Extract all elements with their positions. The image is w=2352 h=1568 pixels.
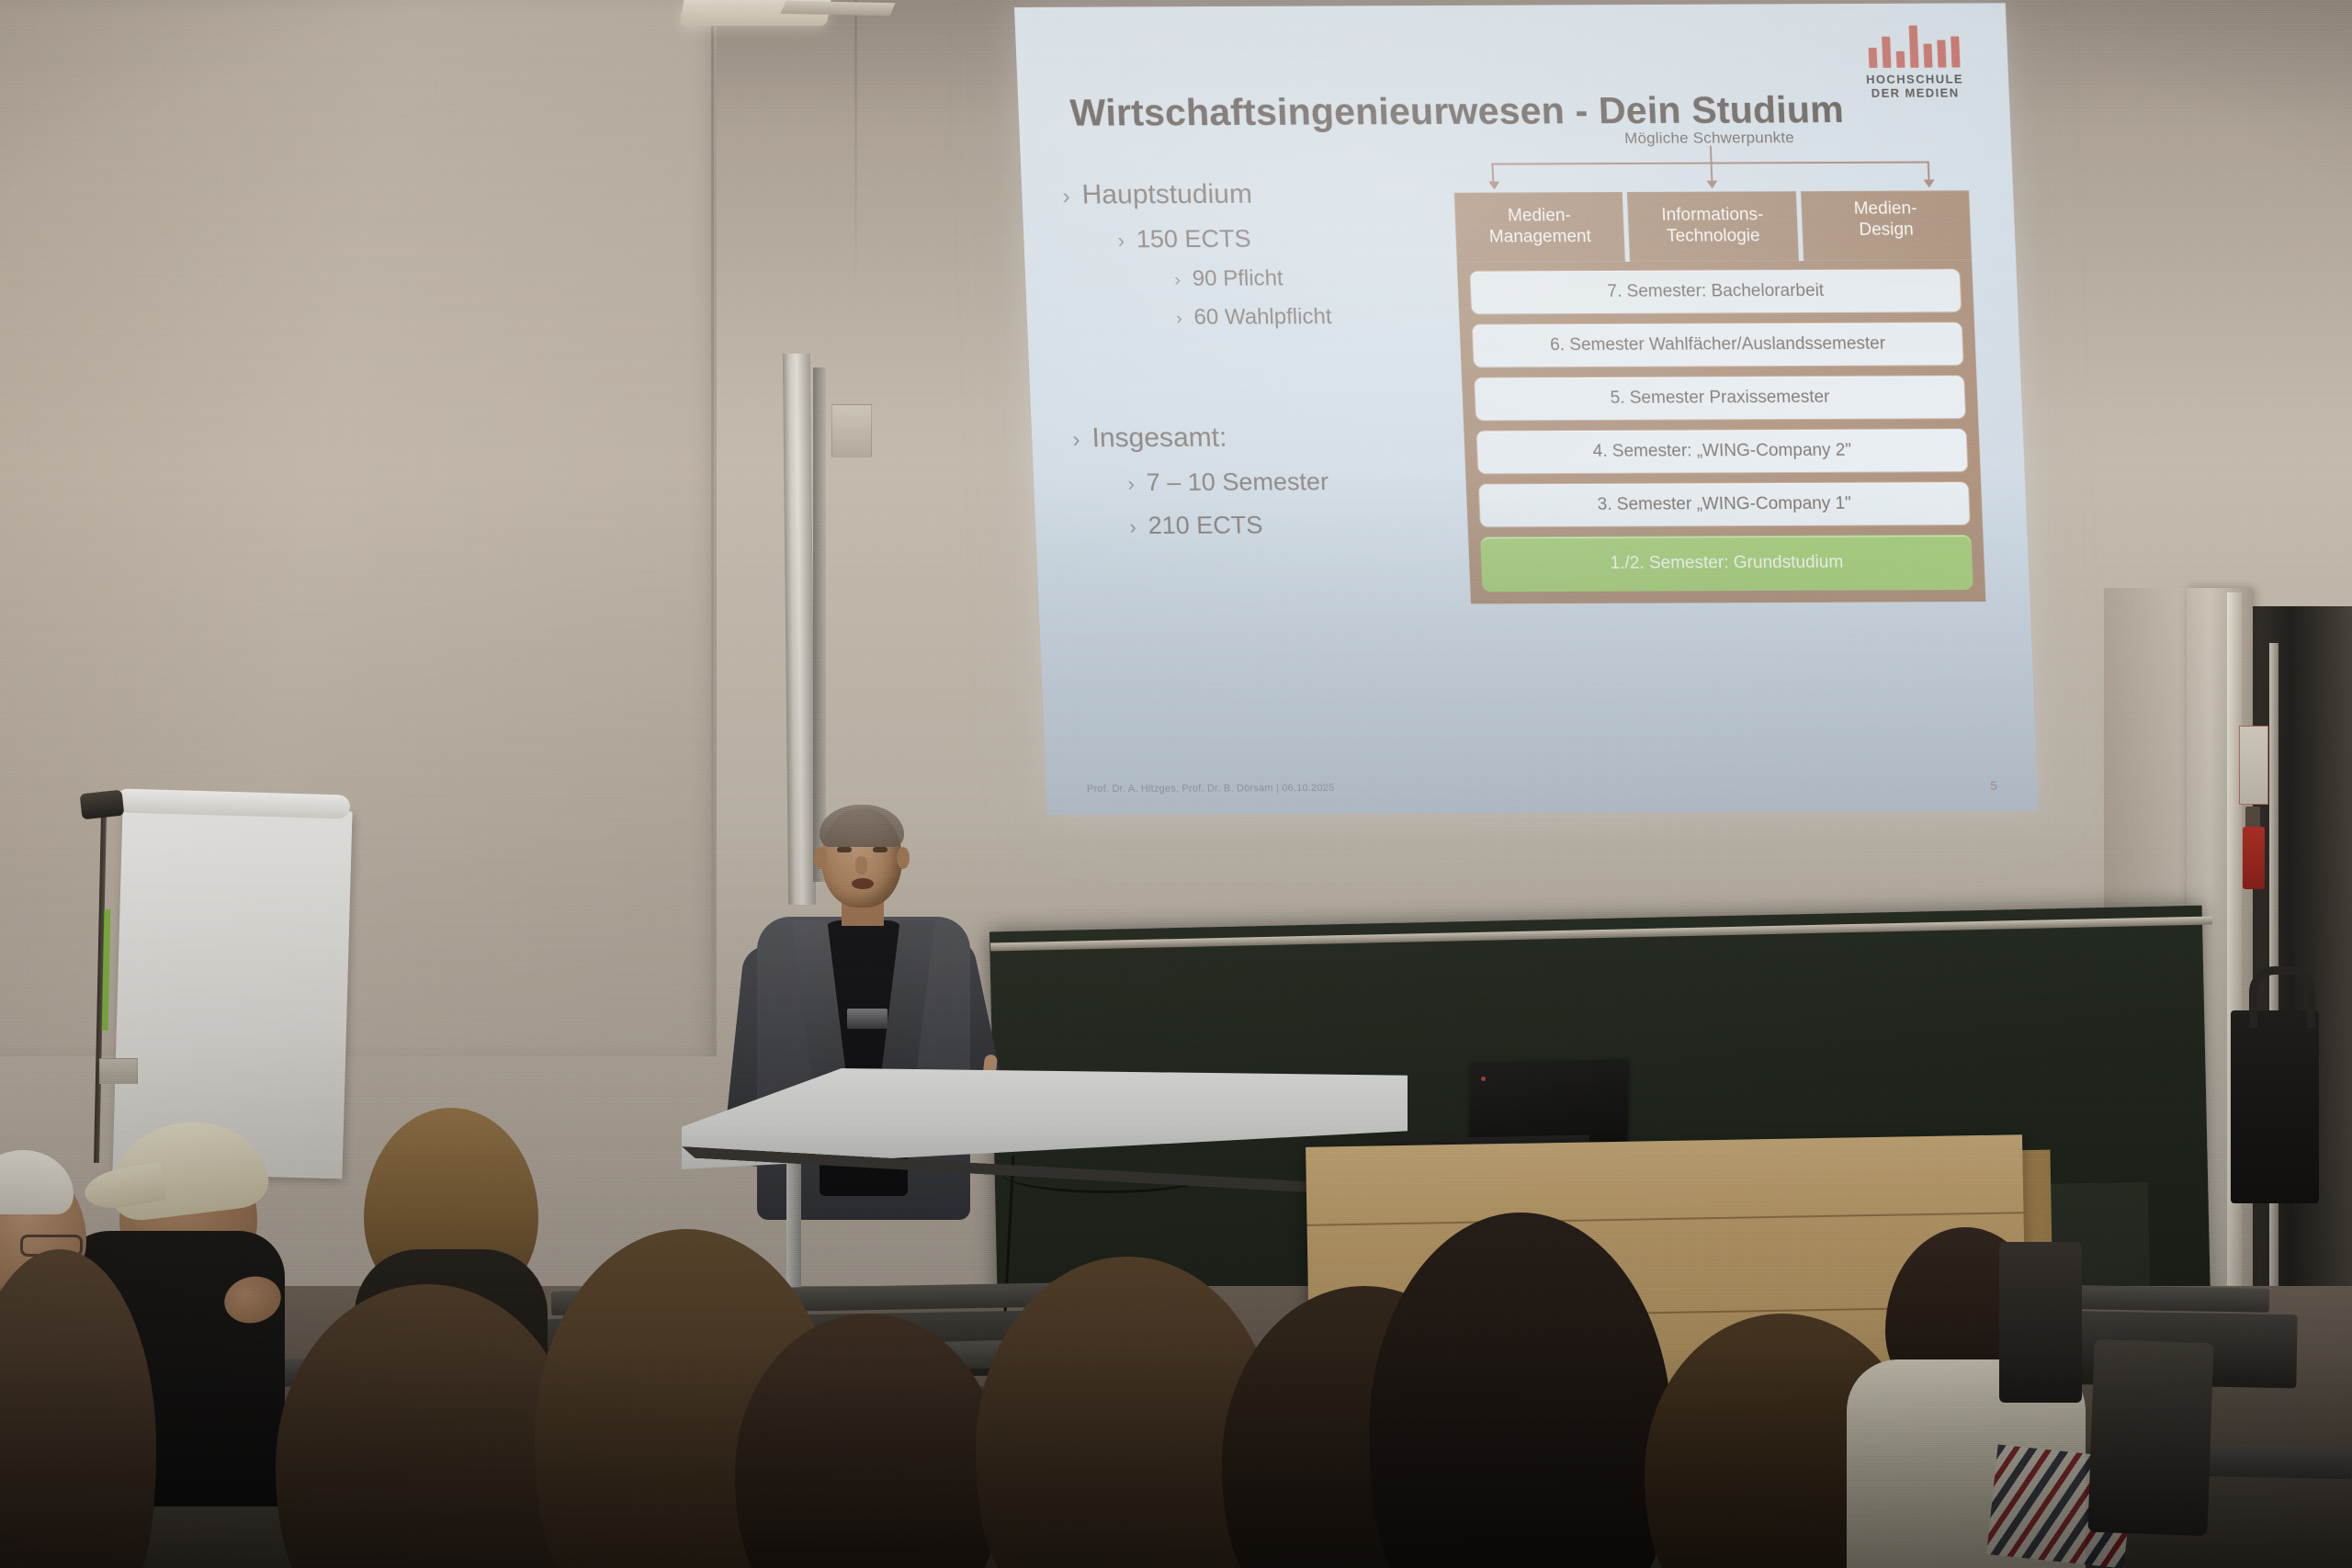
semester-row-5: 5. Semester Praxissemester	[1474, 376, 1966, 422]
bullet-insgesamt: › Insgesamt:	[1072, 422, 1460, 455]
focus-box-line2: Technologie	[1633, 225, 1794, 247]
bullet-hauptstudium: › Hauptstudium	[1062, 178, 1450, 211]
chevron-right-icon: ›	[1072, 427, 1080, 453]
lecture-hall-photo: HOCHSCHULE DER MEDIEN Wirtschaftsingenie…	[0, 0, 2352, 1568]
presenter-tshirt-logo	[847, 1009, 888, 1029]
ceiling-light-bar	[781, 1, 896, 17]
presenter	[707, 799, 1020, 1277]
arrow-down-icon	[1706, 181, 1717, 189]
bag-strap	[2249, 966, 2315, 1028]
chevron-right-icon: ›	[1117, 229, 1125, 253]
focus-box-line1: Medien-	[1804, 197, 1966, 220]
flipchart-clamp	[80, 790, 125, 820]
semester-row-7: 7. Semester: Bachelorarbeit	[1469, 269, 1962, 315]
chevron-right-icon: ›	[1174, 270, 1182, 291]
laptop-power-indicator-icon	[1481, 1077, 1486, 1081]
hanging-bag	[2231, 1010, 2319, 1203]
focus-box-medien-design: Medien- Design	[1801, 190, 1973, 261]
bullet-label: 150 ECTS	[1136, 225, 1251, 254]
focus-area-boxes: Medien- Management Informations- Technol…	[1454, 190, 1973, 263]
hdm-logo-line1: HOCHSCHULE	[1854, 72, 1976, 86]
seat-back	[2087, 1339, 2213, 1536]
projection-screen: HOCHSCHULE DER MEDIEN Wirtschaftsingenie…	[1014, 3, 2039, 815]
chevron-right-icon: ›	[1129, 515, 1136, 539]
bullet-label: Hauptstudium	[1081, 179, 1253, 211]
hdm-logo-line2: DER MEDIEN	[1854, 86, 1976, 101]
arrow-stem-up-icon	[1710, 146, 1713, 163]
presenter-ear-left	[814, 847, 827, 869]
slide-page-number: 5	[1990, 779, 1997, 793]
bullet-label: 210 ECTS	[1148, 511, 1263, 540]
presenter-mouth	[852, 878, 874, 889]
wall-switch-panel	[831, 404, 872, 457]
chevron-right-icon: ›	[1062, 185, 1070, 210]
bullet-60-wahlpflicht: › 60 Wahlpflicht	[1175, 304, 1453, 331]
bullet-90-pflicht: › 90 Pflicht	[1174, 265, 1453, 292]
bullet-label: 60 Wahlpflicht	[1193, 304, 1332, 331]
diagram-arrows	[1473, 153, 1949, 192]
hdm-logo: HOCHSCHULE DER MEDIEN	[1851, 19, 1976, 100]
seat-back	[1999, 1242, 2082, 1403]
chevron-right-icon: ›	[1176, 309, 1183, 330]
study-structure-diagram: Mögliche Schwerpunkte Medien- Management	[1452, 128, 1986, 604]
arrow-stem-icon	[1928, 162, 1930, 182]
semester-row-6: 6. Semester Wahlfächer/Auslandssemester	[1472, 322, 1964, 368]
hdm-logo-text: HOCHSCHULE DER MEDIEN	[1854, 72, 1976, 100]
bullet-label: 7 – 10 Semester	[1146, 468, 1329, 497]
arrow-down-icon	[1924, 180, 1935, 188]
focus-box-line2: Management	[1459, 226, 1621, 248]
bullet-7-10-semester: › 7 – 10 Semester	[1127, 468, 1462, 498]
semester-row-3: 3. Semester „WING-Company 1"	[1478, 481, 1971, 527]
bullet-150-ects: › 150 ECTS	[1117, 224, 1452, 254]
semester-row-1-2-grundstudium: 1./2. Semester: Grundstudium	[1480, 535, 1973, 592]
focus-box-informations-technologie: Informations- Technologie	[1627, 191, 1799, 262]
presenter-ear-right	[897, 847, 910, 869]
lectern-groove	[1307, 1212, 2024, 1226]
arrow-stem-icon	[1711, 163, 1713, 183]
arrow-down-icon	[1488, 182, 1499, 190]
fire-extinguisher-icon	[2243, 827, 2265, 889]
slide-footer: Prof. Dr. A. Hitzges, Prof. Dr. B. Dörsa…	[1087, 783, 1335, 795]
fire-extinguisher-sign	[2239, 726, 2268, 805]
bullet-210-ects: › 210 ECTS	[1129, 511, 1464, 541]
presenter-eye-left	[837, 847, 852, 852]
focus-box-line1: Medien-	[1458, 205, 1620, 227]
presenter-hair	[820, 805, 904, 847]
bullet-label: Insgesamt:	[1091, 423, 1227, 455]
focus-box-medien-management: Medien- Management	[1454, 192, 1626, 263]
bullet-label: 90 Pflicht	[1192, 266, 1283, 292]
wall-outlet-plate	[99, 1058, 138, 1084]
fire-extinguisher-valve-icon	[2245, 807, 2260, 829]
flipchart-paper	[112, 806, 352, 1179]
slide-title: Wirtschaftsingenieurwesen - Dein Studium	[1069, 88, 1845, 135]
wall-panel-left	[0, 0, 717, 1056]
arrow-stem-icon	[1491, 164, 1494, 184]
presenter-nose	[855, 856, 867, 874]
chevron-right-icon: ›	[1127, 472, 1135, 496]
semester-row-4: 4. Semester: „WING-Company 2"	[1476, 429, 1968, 475]
semester-ladder: 7. Semester: Bachelorarbeit 6. Semester …	[1457, 261, 1986, 604]
presenter-eye-right	[873, 847, 888, 852]
wall-seam	[854, 0, 857, 303]
focus-box-line2: Design	[1805, 219, 1967, 241]
slide-bullet-list: › Hauptstudium › 150 ECTS › 90 Pflicht ›…	[1062, 178, 1463, 541]
slide: HOCHSCHULE DER MEDIEN Wirtschaftsingenie…	[1014, 3, 2039, 815]
focus-box-line1: Informations-	[1632, 204, 1793, 226]
hdm-logo-bars-icon	[1851, 19, 1974, 68]
